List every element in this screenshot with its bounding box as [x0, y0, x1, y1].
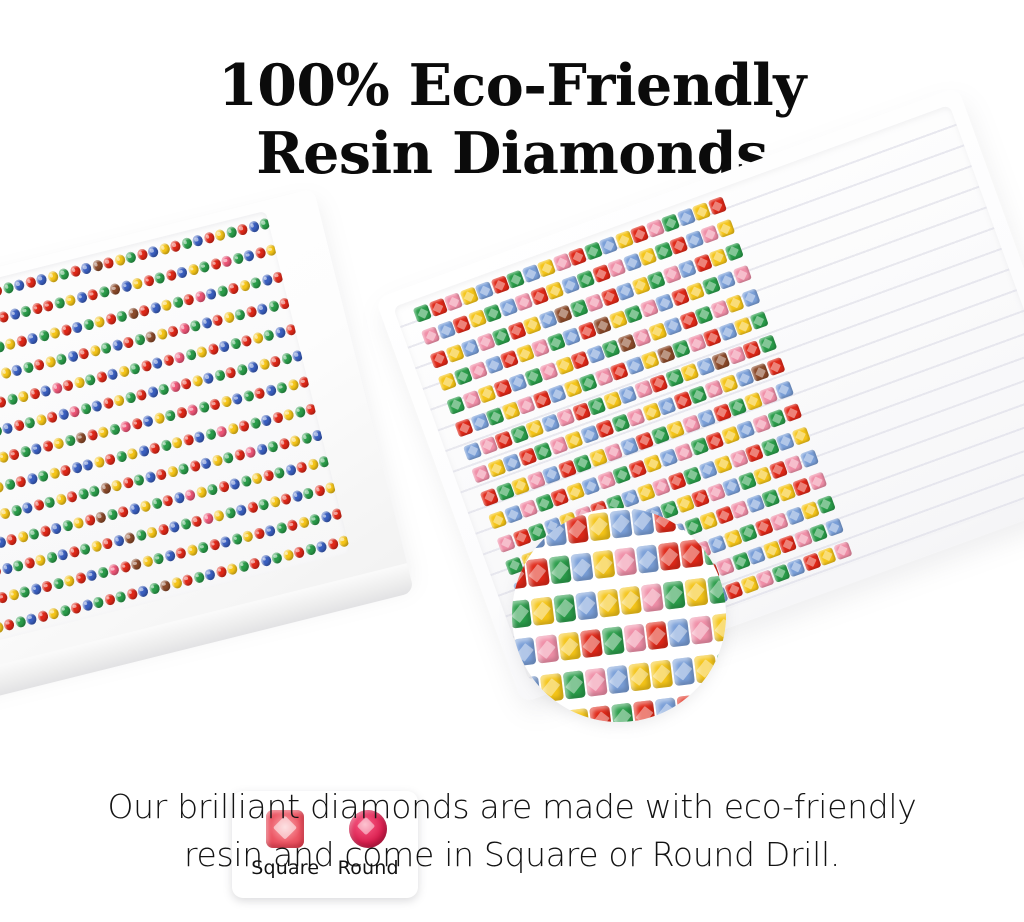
drill-blue	[71, 321, 83, 334]
drill-yellow	[628, 662, 651, 691]
drill-red	[589, 706, 612, 722]
drill-green	[749, 311, 768, 330]
drill-red	[148, 441, 160, 454]
drill-yellow	[282, 548, 294, 561]
drill-blue	[256, 302, 268, 315]
drill-blue	[631, 508, 654, 535]
drill-red	[707, 196, 726, 215]
drill-green	[237, 559, 249, 572]
drill-green	[263, 329, 275, 342]
drill-red	[0, 396, 7, 409]
drill-green	[702, 536, 725, 565]
drill-yellow	[619, 585, 642, 614]
drill-pink	[184, 489, 196, 502]
drill-red	[262, 469, 274, 482]
drill-green	[114, 590, 126, 603]
drill-red	[102, 397, 114, 410]
drill-red	[162, 354, 174, 367]
drill-blue	[518, 676, 541, 705]
drill-green	[2, 282, 14, 295]
drill-red	[658, 542, 681, 571]
drill-yellow	[195, 486, 207, 499]
drill-pink	[221, 255, 233, 268]
drill-green	[309, 514, 321, 527]
drill-yellow	[540, 673, 563, 702]
drill-green	[97, 566, 109, 579]
drill-red	[41, 580, 53, 593]
drill-blue	[11, 364, 23, 377]
drill-yellow	[113, 394, 125, 407]
drill-blue	[91, 400, 103, 413]
drill-green	[816, 495, 835, 514]
drill-blue	[247, 361, 259, 374]
drill-yellow	[685, 577, 708, 606]
drill-red	[182, 433, 194, 446]
drill-green	[225, 226, 237, 239]
drill-blue	[1, 422, 13, 435]
drill-blue	[255, 443, 267, 456]
drill-blue	[25, 612, 37, 625]
drill-red	[633, 700, 656, 722]
drill-red	[0, 311, 10, 324]
drill-green	[45, 551, 57, 564]
drill-green	[64, 434, 76, 447]
drill-blue	[75, 291, 87, 304]
drill-red	[135, 389, 147, 402]
drill-blue	[151, 357, 163, 370]
drill-red	[280, 493, 292, 506]
drill-green	[179, 518, 191, 531]
drill-red	[15, 475, 27, 488]
drill-pink	[120, 421, 132, 434]
drill-yellow	[44, 355, 56, 368]
headline-line-1: 100% Eco-Friendly	[218, 52, 806, 119]
drill-blue	[200, 457, 212, 470]
drill-blue	[229, 477, 241, 490]
drill-pink	[202, 512, 214, 525]
drill-yellow	[47, 271, 59, 284]
drill-green	[236, 364, 248, 377]
drill-red	[59, 464, 71, 477]
drill-yellow	[251, 472, 263, 485]
drill-red	[175, 407, 187, 420]
drill-green	[204, 427, 216, 440]
drill-pink	[584, 667, 607, 696]
drill-blue	[193, 430, 205, 443]
drill-yellow	[269, 496, 281, 509]
drill-blue	[259, 554, 271, 567]
drill-green	[224, 507, 236, 520]
drill-yellow	[791, 426, 810, 445]
drill-green	[602, 626, 625, 655]
drill-blue	[192, 234, 204, 247]
drill-green	[234, 308, 246, 321]
drill-red	[271, 411, 283, 424]
drill-red	[248, 557, 260, 570]
drill-blue	[147, 245, 159, 258]
drill-green	[79, 402, 91, 415]
drill-yellow	[545, 711, 568, 722]
drill-yellow	[213, 509, 225, 522]
drill-yellow	[211, 454, 223, 467]
drill-blue	[264, 525, 276, 538]
drill-blue	[799, 449, 818, 468]
drill-blue	[9, 308, 21, 321]
drill-red	[246, 501, 258, 514]
drill-yellow	[4, 337, 16, 350]
drill-green	[302, 487, 314, 500]
drill-green	[55, 352, 67, 365]
drill-green	[512, 599, 532, 628]
drill-red	[293, 546, 305, 559]
drill-green	[59, 604, 71, 617]
drill-red	[175, 547, 187, 560]
drill-green	[267, 300, 279, 313]
drill-green	[249, 276, 261, 289]
drill-green	[150, 497, 162, 510]
drill-red	[326, 537, 338, 550]
drill-blue	[205, 287, 217, 300]
drill-blue	[672, 657, 695, 686]
drill-red	[188, 459, 200, 472]
drill-yellow	[170, 576, 182, 589]
drill-red	[70, 601, 82, 614]
drill-green	[3, 478, 15, 491]
drill-red	[101, 537, 113, 550]
drill-brown	[91, 259, 103, 272]
drill-red	[119, 561, 131, 574]
drill-red	[83, 514, 95, 527]
drill-red	[42, 300, 54, 313]
drill-blue	[1, 562, 13, 575]
drill-red	[207, 343, 219, 356]
drill-green	[28, 528, 40, 541]
drill-red	[236, 223, 248, 236]
drill-red	[3, 618, 15, 631]
drill-red	[77, 347, 89, 360]
caption: Our brilliant diamonds are made with eco…	[0, 783, 1024, 879]
drill-red	[225, 366, 237, 379]
drill-red	[211, 314, 223, 327]
drill-blue	[80, 262, 92, 275]
drill-blue	[675, 508, 698, 530]
drill-yellow	[223, 311, 235, 324]
drill-red	[122, 476, 134, 489]
drill-green	[116, 309, 128, 322]
drill-blue	[320, 511, 332, 524]
drill-green	[100, 341, 112, 354]
drill-green	[724, 242, 743, 261]
drill-blue	[697, 508, 720, 527]
drill-green	[22, 361, 34, 374]
drill-blue	[543, 517, 566, 546]
drill-green	[37, 329, 49, 342]
drill-yellow	[558, 632, 581, 661]
drill-green	[52, 578, 64, 591]
drill-red	[653, 508, 676, 533]
drill-green	[171, 295, 183, 308]
drill-blue	[35, 273, 47, 286]
drill-red	[86, 429, 98, 442]
drill-yellow	[93, 455, 105, 468]
drill-green	[257, 498, 269, 511]
drill-blue	[26, 472, 38, 485]
drill-blue	[50, 522, 62, 535]
drill-yellow	[242, 530, 254, 543]
drill-red	[136, 248, 148, 261]
product-photo-stage: Square Round	[0, 190, 1024, 760]
drill-brown	[159, 579, 171, 592]
drill-blue	[202, 372, 214, 385]
drill-green	[197, 541, 209, 554]
drill-yellow	[699, 692, 722, 721]
drill-blue	[636, 545, 659, 574]
drill-brown	[99, 482, 111, 495]
drill-green	[249, 416, 261, 429]
drill-green	[10, 504, 22, 517]
drill-yellow	[171, 436, 183, 449]
drill-yellow	[650, 659, 673, 688]
drill-brown	[75, 432, 87, 445]
drill-red	[31, 302, 43, 315]
drill-yellow	[592, 550, 615, 579]
drill-green	[108, 423, 120, 436]
drill-green	[611, 703, 634, 722]
drill-green	[231, 533, 243, 546]
drill-yellow	[118, 365, 130, 378]
drill-red	[165, 269, 177, 282]
drill-yellow	[191, 375, 203, 388]
drill-blue	[81, 598, 93, 611]
drill-red	[167, 325, 179, 338]
drill-yellow	[227, 422, 239, 435]
drill-green	[43, 496, 55, 509]
drill-green	[158, 383, 170, 396]
drill-green	[19, 586, 31, 599]
drill-blue	[522, 520, 545, 549]
drill-green	[222, 451, 234, 464]
drill-pink	[186, 404, 198, 417]
drill-green	[20, 305, 32, 318]
drill-yellow	[287, 379, 299, 392]
drill-yellow	[160, 298, 172, 311]
drill-green	[152, 553, 164, 566]
drill-pink	[51, 382, 63, 395]
drill-green	[189, 319, 201, 332]
drill-blue	[13, 279, 25, 292]
drill-blue	[315, 540, 327, 553]
drill-red	[240, 334, 252, 347]
drill-yellow	[97, 426, 109, 439]
drill-blue	[570, 553, 593, 582]
drill-yellow	[153, 412, 165, 425]
caption-line-1: Our brilliant diamonds are made with eco…	[107, 787, 916, 826]
drill-pink	[732, 265, 751, 284]
drill-pink	[536, 635, 559, 664]
drill-red	[217, 480, 229, 493]
drill-blue	[39, 384, 51, 397]
drill-blue	[120, 280, 132, 293]
drill-green	[232, 252, 244, 265]
drill-green	[242, 390, 254, 403]
drill-yellow	[73, 376, 85, 389]
drill-red	[208, 539, 220, 552]
drill-yellow	[90, 540, 102, 553]
drill-red	[253, 387, 265, 400]
drill-blue	[149, 301, 161, 314]
drill-red	[28, 387, 40, 400]
drill-pink	[244, 446, 256, 459]
drill-blue	[173, 491, 185, 504]
drill-yellow	[0, 480, 5, 493]
drill-red	[580, 629, 603, 658]
drill-yellow	[139, 500, 151, 513]
drill-brown	[109, 283, 121, 296]
drill-red	[245, 305, 257, 318]
drill-red	[286, 519, 298, 532]
drill-blue	[137, 444, 149, 457]
drill-red	[104, 452, 116, 465]
drill-green	[229, 337, 241, 350]
drill-green	[79, 543, 91, 556]
drill-green	[37, 469, 49, 482]
drill-red	[783, 403, 802, 422]
drill-green	[125, 251, 137, 264]
drill-blue	[824, 518, 843, 537]
drill-yellow	[166, 465, 178, 478]
drill-yellow	[131, 277, 143, 290]
drill-red	[8, 448, 20, 461]
drill-red	[140, 359, 152, 372]
drill-yellow	[0, 507, 11, 520]
drill-blue	[30, 583, 42, 596]
drill-red	[87, 289, 99, 302]
drill-red	[512, 561, 528, 590]
drill-blue	[57, 548, 69, 561]
drill-red	[39, 525, 51, 538]
drill-red	[254, 247, 266, 260]
drill-red	[181, 573, 193, 586]
drill-yellow	[258, 358, 270, 371]
drill-blue	[243, 250, 255, 263]
drill-red	[66, 490, 78, 503]
drill-blue	[21, 501, 33, 514]
drill-green	[192, 571, 204, 584]
drill-green	[198, 261, 210, 274]
drill-green	[184, 348, 196, 361]
drill-red	[169, 240, 181, 253]
drill-green	[14, 615, 26, 628]
drill-green	[716, 651, 726, 680]
drill-blue	[741, 288, 760, 307]
drill-red	[565, 514, 588, 543]
drill-yellow	[282, 408, 294, 421]
drill-yellow	[7, 589, 19, 602]
drill-red	[203, 232, 215, 245]
drill-blue	[106, 368, 118, 381]
drill-red	[69, 265, 81, 278]
drill-blue	[655, 698, 678, 722]
drill-green	[124, 391, 136, 404]
drill-yellow	[226, 562, 238, 575]
drill-blue	[291, 490, 303, 503]
drill-red	[62, 379, 74, 392]
drill-yellow	[0, 366, 12, 379]
drill-pink	[178, 322, 190, 335]
drill-green	[129, 362, 141, 375]
drill-yellow	[126, 447, 138, 460]
drill-blue	[26, 332, 38, 345]
drill-green	[84, 373, 96, 386]
drill-blue	[514, 637, 537, 666]
drill-green	[148, 582, 160, 595]
drill-red	[645, 621, 668, 650]
drill-red	[46, 411, 58, 424]
drill-red	[157, 523, 169, 536]
drill-yellow	[711, 613, 726, 642]
drill-green	[758, 334, 777, 353]
drill-blue	[112, 534, 124, 547]
drill-red	[60, 323, 72, 336]
drill-yellow	[531, 596, 554, 625]
drill-blue	[81, 458, 93, 471]
drill-green	[276, 382, 288, 395]
drill-yellow	[196, 345, 208, 358]
drill-yellow	[186, 544, 198, 557]
drill-pink	[614, 547, 637, 576]
drill-green	[53, 297, 65, 310]
drill-red	[209, 258, 221, 271]
drill-yellow	[110, 479, 122, 492]
drill-green	[707, 575, 726, 604]
drill-green	[304, 543, 316, 556]
drill-blue	[57, 408, 69, 421]
drill-red	[13, 419, 25, 432]
drill-brown	[95, 511, 107, 524]
drill-red	[0, 591, 9, 604]
drill-green	[663, 580, 686, 609]
drill-yellow	[89, 344, 101, 357]
drill-blue	[774, 380, 793, 399]
drill-green	[77, 487, 89, 500]
drill-brown	[130, 558, 142, 571]
drill-yellow	[716, 219, 735, 238]
drill-yellow	[47, 607, 59, 620]
drill-red	[295, 461, 307, 474]
drill-blue	[284, 464, 296, 477]
drill-red	[180, 377, 192, 390]
drill-red	[278, 437, 290, 450]
drill-blue	[219, 536, 231, 549]
drill-blue	[111, 339, 123, 352]
drill-blue	[164, 550, 176, 563]
drill-yellow	[587, 512, 610, 541]
drill-blue	[176, 266, 188, 279]
drill-green	[98, 286, 110, 299]
drill-blue	[247, 220, 259, 233]
drill-green	[280, 352, 292, 365]
drill-yellow	[251, 332, 263, 345]
drill-blue	[575, 591, 598, 620]
drill-brown	[124, 532, 136, 545]
caption-line-2: resin and come in Square or Round Drill.	[0, 831, 1024, 879]
drill-green	[133, 473, 145, 486]
drill-red	[68, 546, 80, 559]
drill-green	[61, 519, 73, 532]
drill-yellow	[238, 279, 250, 292]
drill-blue	[200, 316, 212, 329]
drill-green	[133, 333, 145, 346]
